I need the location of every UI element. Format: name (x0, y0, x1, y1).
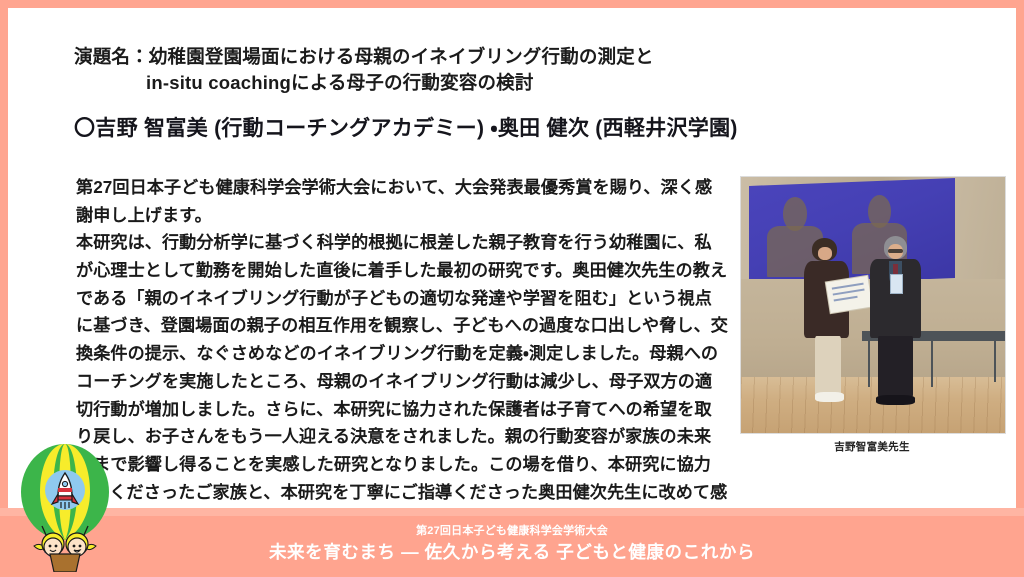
balloon-basket (50, 554, 80, 572)
footer-accent-stripe (0, 508, 1024, 516)
person-left-face (818, 247, 833, 260)
stage-floor (741, 377, 1005, 433)
table-leg (994, 341, 996, 382)
photo-caption: 吉野智富美先生 (740, 439, 1004, 454)
table-leg (868, 341, 870, 387)
title-line-1: 演題名：幼稚園登園場面における母親のイネイブリング行動の測定と (74, 44, 724, 70)
body-paragraph-1: 第27回日本子ども健康科学会学術大会において、大会発表最優秀賞を賜り、深く感謝申… (76, 174, 728, 229)
title-line-2: in-situ coachingによる母子の行動変容の検討 (74, 70, 724, 96)
slide-content-area: 演題名：幼稚園登園場面における母親のイネイブリング行動の測定と in-situ … (8, 8, 1016, 508)
person-left-legs (815, 336, 841, 395)
footer-bar: 第27回日本子ども健康科学会学術大会 未来を育むまち ― 佐久から考える 子ども… (0, 508, 1024, 576)
table-leg (931, 341, 933, 387)
photo-image (741, 177, 1005, 433)
person-left-shoes (815, 392, 844, 402)
person-right-name-badge (890, 274, 903, 294)
award-ceremony-photo (740, 176, 1006, 434)
slide-root: 演題名：幼稚園登園場面における母親のイネイブリング行動の測定と in-situ … (0, 0, 1024, 576)
footer-theme: 未来を育むまち ― 佐久から考える 子どもと健康のこれから (0, 539, 1024, 564)
person-right-glasses (888, 249, 904, 253)
hot-air-balloon-logo (6, 440, 124, 572)
kid-right-face (68, 538, 86, 556)
footer-conference-name: 第27回日本子ども健康科学会学術大会 (0, 522, 1024, 538)
body-text: 第27回日本子ども健康科学会学術大会において、大会発表最優秀賞を賜り、深く感謝申… (76, 174, 728, 508)
person-right-shoes (876, 395, 916, 405)
person-right-legs (878, 336, 912, 397)
body-paragraph-2: 本研究は、行動分析学に基づく科学的根拠に根差した親子教育を行う幼稚園に、私が心理… (76, 229, 728, 508)
presentation-title: 演題名：幼稚園登園場面における母親のイネイブリング行動の測定と in-situ … (74, 44, 724, 97)
authors-line: 〇吉野 智富美 (行動コーチングアカデミー) ・奥田 健次 (西軽井沢学園) (74, 112, 738, 142)
kid-left-face (44, 538, 62, 556)
